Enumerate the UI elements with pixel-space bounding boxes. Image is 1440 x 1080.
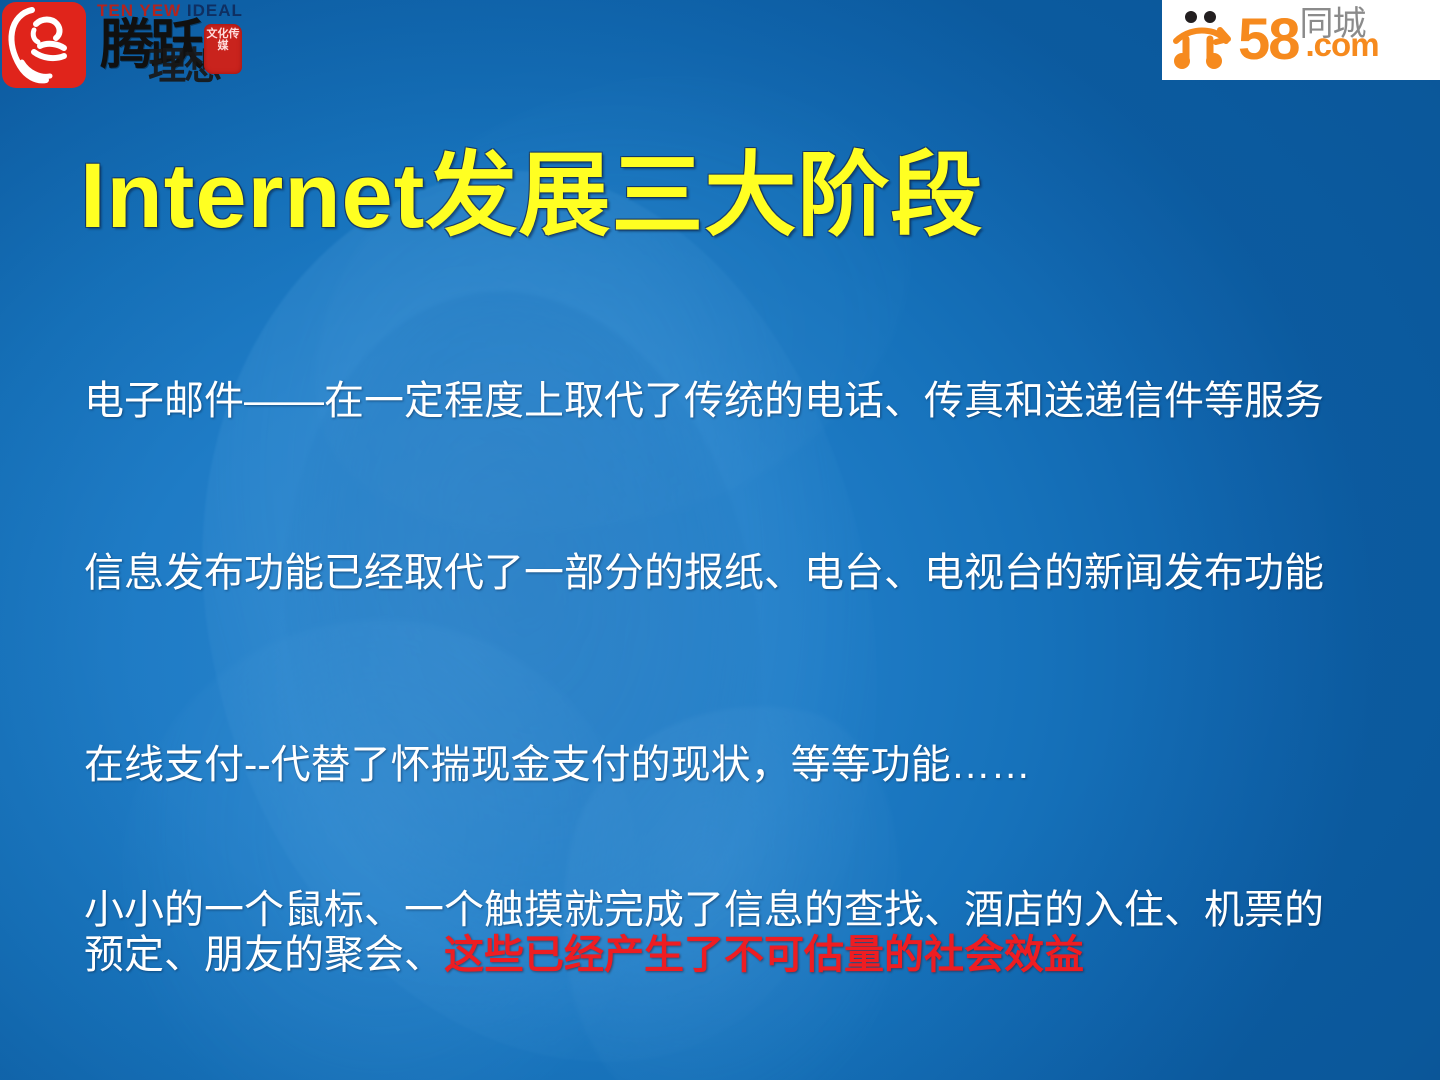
body-paragraph-2: 信息发布功能已经取代了一部分的报纸、电台、电视台的新闻发布功能 (84, 550, 1324, 597)
running-horse-mark-icon (2, 2, 86, 88)
brand-seal-stamp-icon: 文化传媒 (204, 24, 242, 74)
body-paragraph-3: 在线支付--代替了怀揣现金支付的现状，等等功能…… (84, 742, 1031, 789)
58-domain-label: .com (1306, 28, 1379, 61)
body-paragraph-4-highlight: 这些已经产生了不可估量的社会效益 (444, 933, 1084, 977)
running-horse-icon (2, 2, 86, 88)
58-mascot-figure-icon (1170, 9, 1236, 71)
58-number: 58 (1238, 11, 1299, 69)
brand-seal-text: 文化传媒 (204, 24, 242, 74)
body-paragraph-1: 电子邮件——在一定程度上取代了传统的电话、传真和送递信件等服务 (84, 378, 1324, 425)
company-logo: TEN YEW IDEAL 腾跃 理想 文化传媒 (0, 0, 260, 100)
partner-logo-58com: 58 同城 .com (1162, 0, 1440, 80)
presentation-slide: TEN YEW IDEAL 腾跃 理想 文化传媒 58 同城 .com (0, 0, 1440, 1080)
page-title: Internet发展三大阶段 (80, 148, 983, 245)
58-wordmark: 同城 .com (1300, 19, 1379, 61)
body-paragraph-4: 小小的一个鼠标、一个触摸就完成了信息的查找、酒店的入住、机票的预定、朋友的聚会、… (84, 888, 1354, 978)
58-mascot-icon (1170, 9, 1236, 71)
